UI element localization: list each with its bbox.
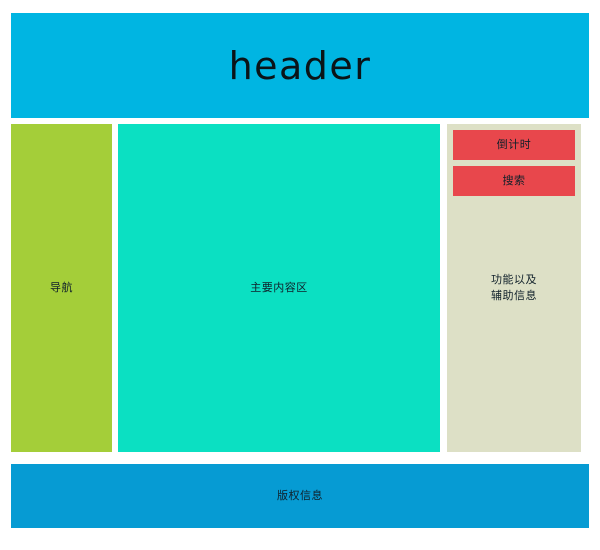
aside-region: 功能以及 辅助信息 倒计时 搜索 [447, 124, 581, 452]
navigation-region: 导航 [11, 124, 112, 452]
countdown-widget[interactable]: 倒计时 [453, 130, 575, 160]
footer-label: 版权信息 [277, 488, 323, 504]
page-layout-wireframe: header 导航 主要内容区 功能以及 辅助信息 倒计时 搜索 版权信息 [0, 0, 600, 550]
navigation-label: 导航 [50, 280, 73, 296]
countdown-widget-label: 倒计时 [497, 137, 532, 153]
main-content-label: 主要内容区 [250, 280, 308, 296]
header-title: header [229, 47, 372, 85]
aside-info-label: 功能以及 辅助信息 [491, 272, 537, 304]
search-widget-label: 搜索 [503, 173, 526, 189]
header-region: header [11, 13, 589, 118]
footer-region: 版权信息 [11, 464, 589, 528]
search-widget[interactable]: 搜索 [453, 166, 575, 196]
main-content-region: 主要内容区 [118, 124, 440, 452]
